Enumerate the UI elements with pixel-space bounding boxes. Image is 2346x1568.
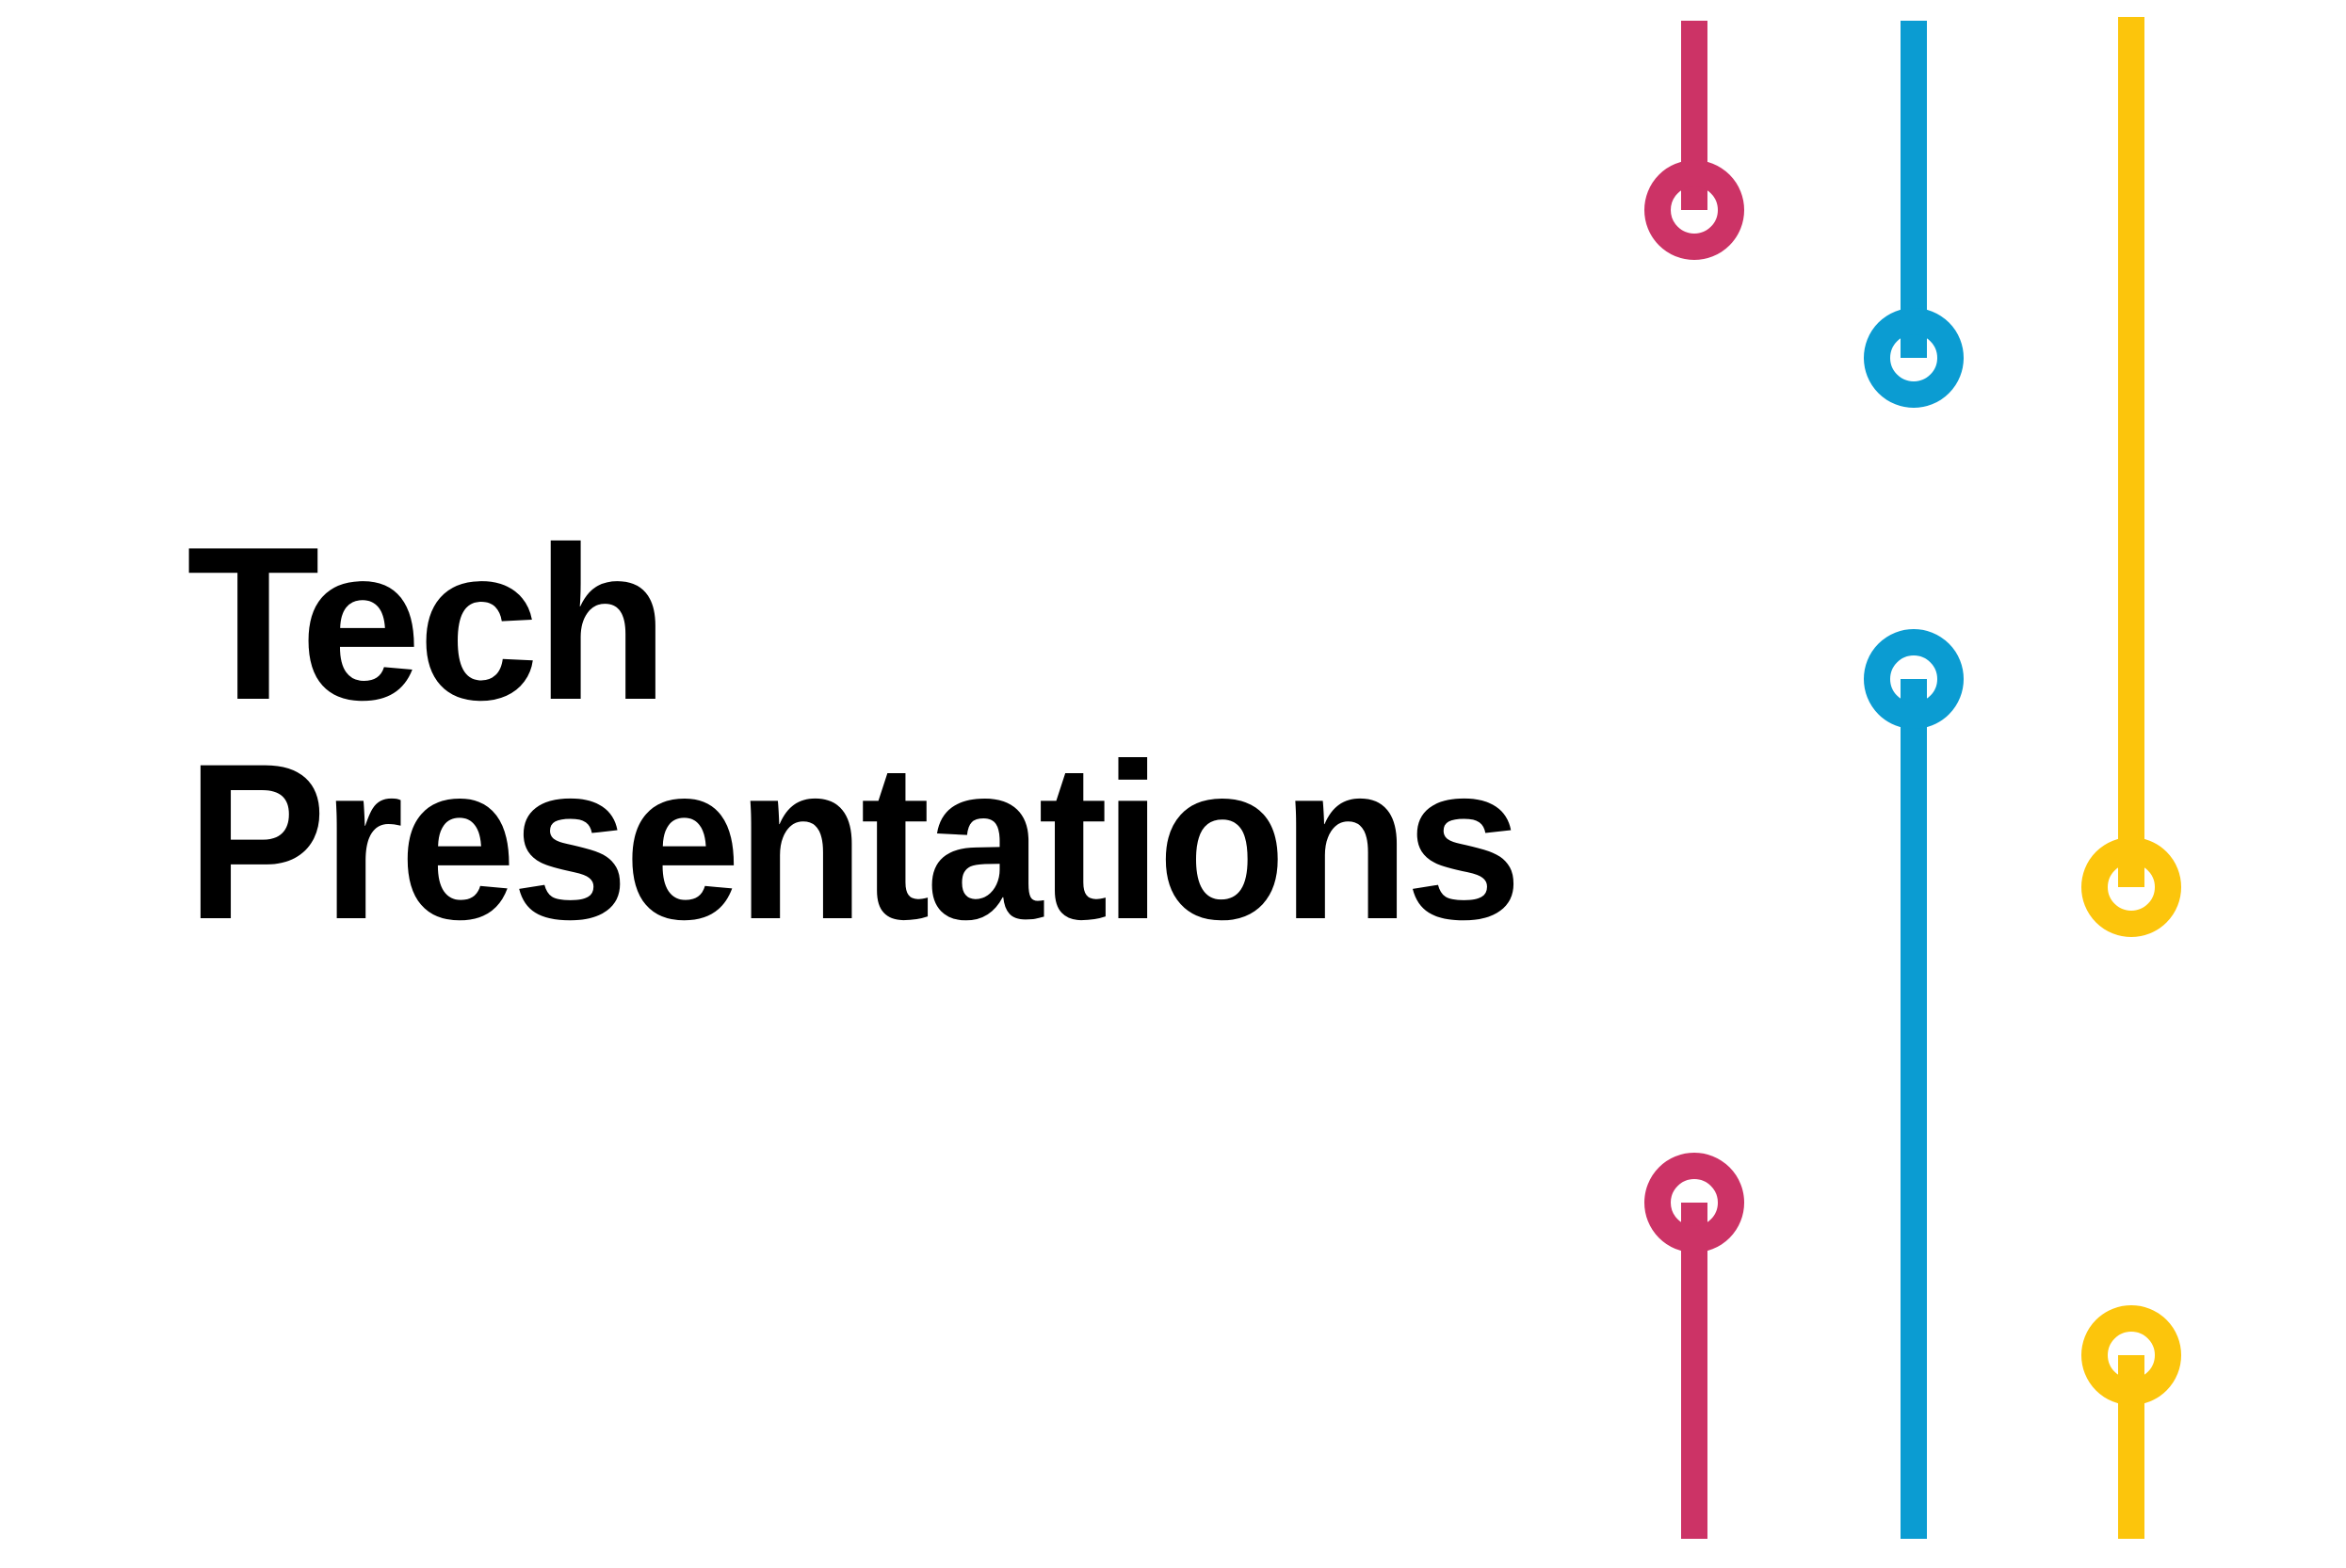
- yellow-node-bottom-icon: [2095, 1318, 2168, 1392]
- yellow-node-top-icon: [2095, 850, 2168, 924]
- blue-node-bottom-icon: [1877, 642, 1950, 716]
- blue-node-top-icon: [1877, 321, 1950, 395]
- yellow-track: [2095, 17, 2168, 1539]
- slide-canvas: Tech Presentations: [0, 0, 2346, 1568]
- slide-title-line-1: Tech: [186, 516, 1618, 733]
- pink-track: [1658, 21, 1731, 1539]
- slide-title: Tech Presentations: [186, 516, 1618, 952]
- pink-node-bottom-icon: [1658, 1166, 1731, 1239]
- slide-title-line-2: Presentations: [186, 733, 1539, 953]
- pink-node-top-icon: [1658, 173, 1731, 247]
- blue-track: [1877, 21, 1950, 1539]
